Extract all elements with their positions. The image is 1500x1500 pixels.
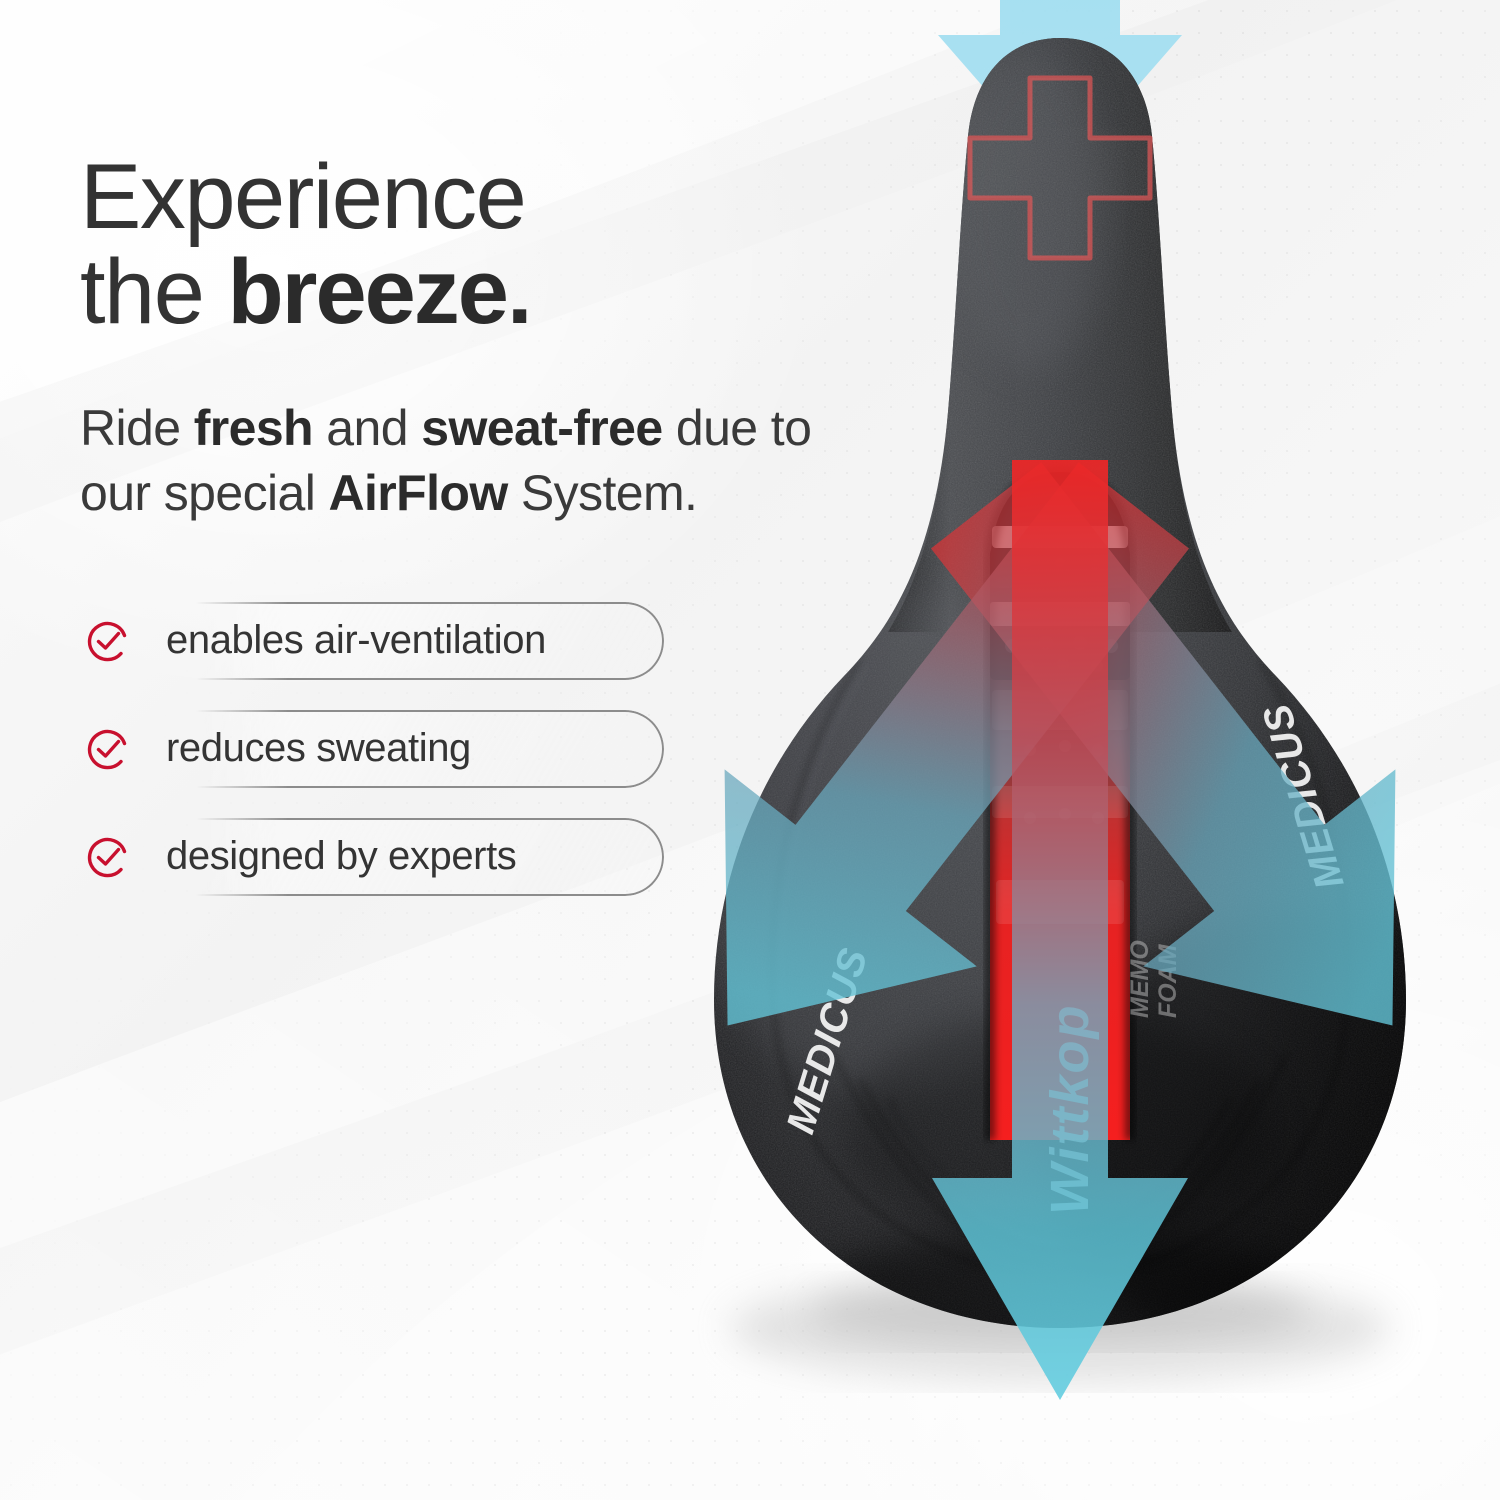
subhead-part-1: Ride [80,400,194,456]
headline-line-1: Experience [80,146,525,248]
subhead-bold-sweat-free: sweat-free [421,400,662,456]
headline-line-2-light: the [80,241,227,343]
feature-item-air-ventilation: enables air-ventilation [80,602,840,680]
feature-label: enables air-ventilation [166,618,546,663]
check-circle-icon [84,617,132,665]
subhead-bold-airflow: AirFlow [329,465,508,521]
headline-line-2-bold: breeze. [227,241,530,343]
foam-text-memo: MEMO [1126,940,1154,1018]
check-circle-icon [84,833,132,881]
subhead-part-2: and [313,400,421,456]
subhead-bold-fresh: fresh [194,400,313,456]
subheading: Ride fresh and sweat-free due to our spe… [80,396,820,526]
feature-item-designed-by-experts: designed by experts [80,818,840,896]
feature-list: enables air-ventilation reduces sweating… [80,602,840,896]
subhead-part-4: System. [508,465,698,521]
check-circle-icon [84,725,132,773]
feature-label: reduces sweating [166,726,471,771]
marketing-copy-block: Experiencethe breeze. Ride fresh and swe… [80,150,840,926]
page-title: Experiencethe breeze. [80,150,840,340]
feature-label: designed by experts [166,834,516,879]
feature-item-reduces-sweating: reduces sweating [80,710,840,788]
